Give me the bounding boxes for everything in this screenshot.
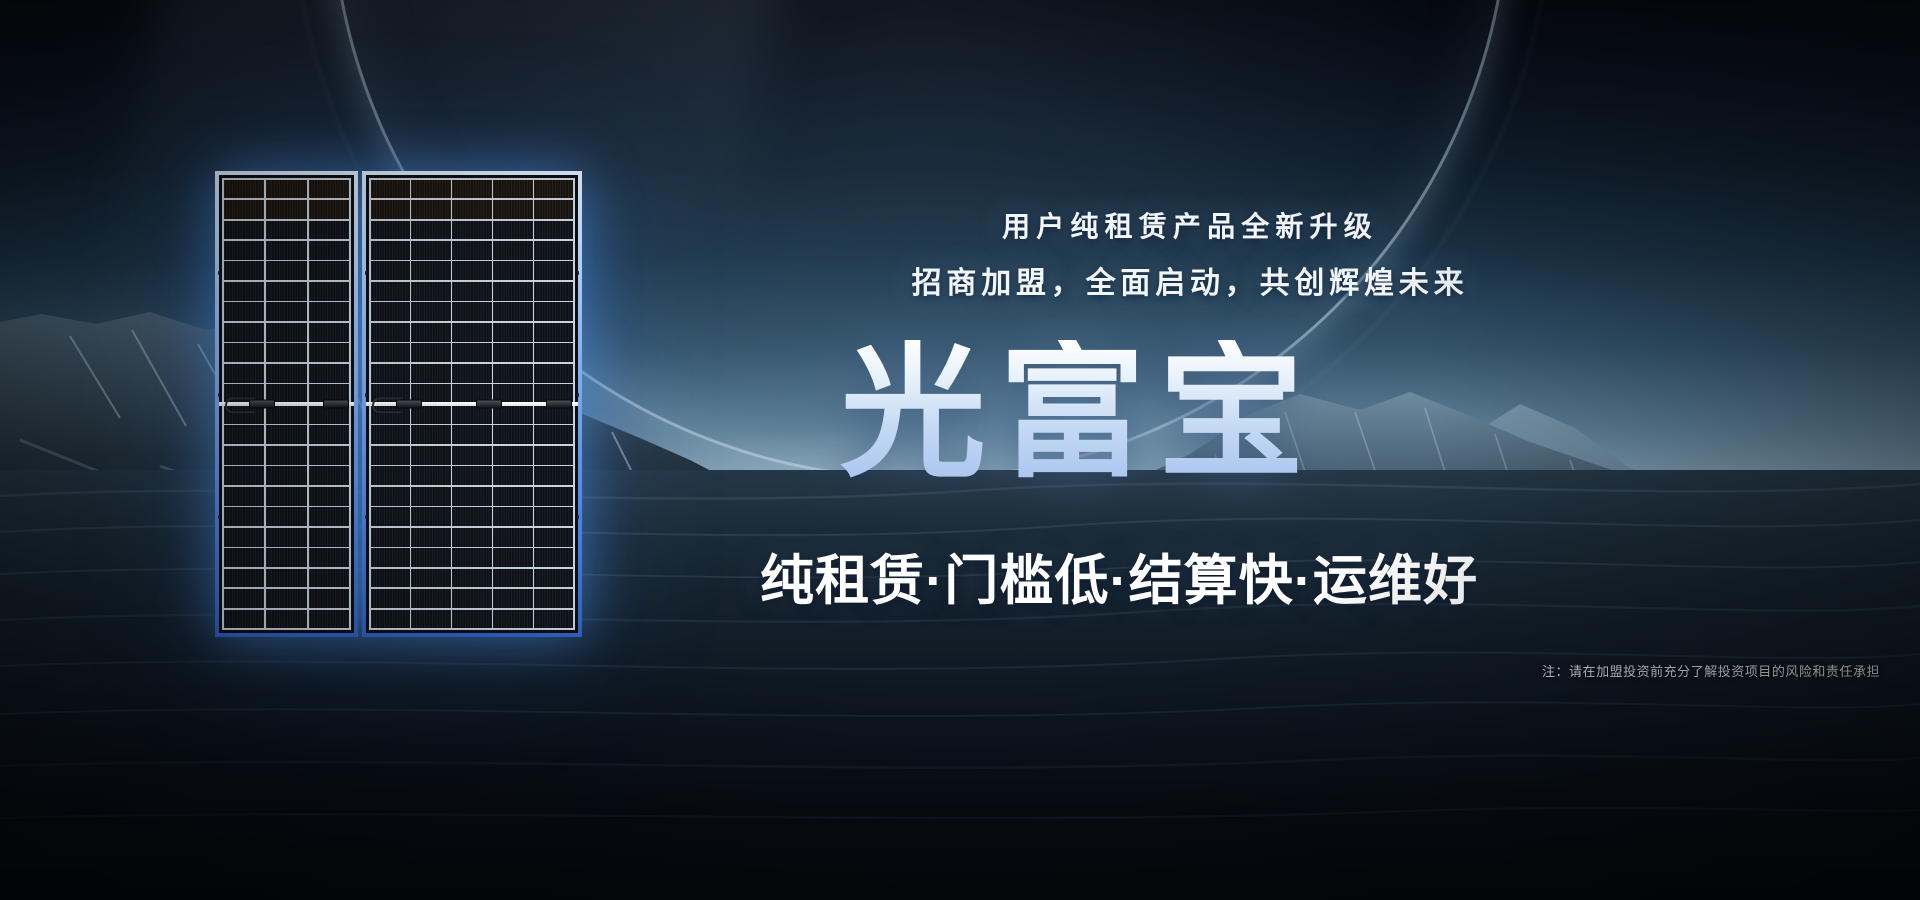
tagline-benefits: 纯租赁·门槛低·结算快·运维好 <box>760 536 1660 615</box>
solar-cell <box>452 548 491 567</box>
solar-cell <box>309 425 350 444</box>
solar-cell <box>224 446 265 465</box>
solar-cell <box>411 548 450 567</box>
solar-cell <box>534 487 573 506</box>
solar-cell <box>493 446 532 465</box>
solar-cell <box>266 221 307 240</box>
solar-cell <box>266 180 307 199</box>
solar-cell <box>411 425 450 444</box>
solar-cell <box>411 180 450 199</box>
solar-cell <box>493 528 532 547</box>
solar-cell <box>266 200 307 219</box>
solar-cell <box>371 446 410 465</box>
solar-cell <box>309 569 350 588</box>
solar-cell <box>452 528 491 547</box>
solar-cell <box>534 180 573 199</box>
solar-cell <box>534 343 573 362</box>
solar-cell <box>309 221 350 240</box>
solar-cell <box>309 282 350 301</box>
solar-cell <box>224 282 265 301</box>
subheadline-line-2: 招商加盟，全面启动，共创辉煌未来 <box>790 258 1590 302</box>
frame-screw <box>577 271 579 275</box>
solar-cell <box>411 323 450 342</box>
solar-cell <box>493 364 532 383</box>
solar-cell <box>493 487 532 506</box>
frame-screw <box>365 271 367 275</box>
solar-cell <box>309 446 350 465</box>
solar-cell <box>371 466 410 485</box>
solar-cell <box>309 261 350 280</box>
solar-cell <box>224 343 265 362</box>
solar-cell <box>266 446 307 465</box>
solar-cell <box>411 343 450 362</box>
solar-cell <box>266 241 307 260</box>
solar-cell <box>493 466 532 485</box>
solar-cell <box>534 364 573 383</box>
solar-cell <box>452 610 491 629</box>
solar-cell <box>266 487 307 506</box>
solar-cell <box>309 241 350 260</box>
solar-cell <box>266 261 307 280</box>
solar-cell <box>309 302 350 321</box>
solar-cell <box>452 221 491 240</box>
solar-cell <box>309 200 350 219</box>
solar-cell <box>224 323 265 342</box>
solar-cell <box>411 589 450 608</box>
solar-cell <box>224 507 265 526</box>
solar-cell <box>266 589 307 608</box>
solar-cell <box>266 323 307 342</box>
frame-screw <box>218 271 220 275</box>
solar-cell <box>411 466 450 485</box>
solar-cell <box>493 548 532 567</box>
solar-cell <box>534 282 573 301</box>
solar-cell <box>371 323 410 342</box>
frame-screw <box>218 515 220 519</box>
solar-cell <box>411 507 450 526</box>
solar-cell <box>534 425 573 444</box>
solar-cell <box>266 528 307 547</box>
solar-cell <box>224 466 265 485</box>
frame-screw <box>365 393 367 397</box>
solar-cell <box>266 282 307 301</box>
solar-cell <box>309 466 350 485</box>
solar-cell <box>493 241 532 260</box>
solar-cell <box>224 548 265 567</box>
solar-cell <box>411 528 450 547</box>
solar-cell <box>224 302 265 321</box>
brand-title: 光富宝 <box>840 340 1440 486</box>
subheadline-line-1: 用户纯租赁产品全新升级 <box>870 205 1510 245</box>
solar-module-right <box>362 171 582 637</box>
solar-cell <box>411 261 450 280</box>
solar-cell <box>224 425 265 444</box>
solar-cell <box>224 180 265 199</box>
solar-cell <box>493 323 532 342</box>
solar-cell <box>411 446 450 465</box>
solar-cell <box>534 323 573 342</box>
solar-cell <box>224 589 265 608</box>
solar-cell <box>266 364 307 383</box>
frame-screw <box>577 393 579 397</box>
solar-cell <box>309 487 350 506</box>
disclaimer-note: 注：请在加盟投资前充分了解投资项目的风险和责任承担 <box>1542 661 1880 680</box>
solar-cell <box>266 343 307 362</box>
promo-banner: 用户纯租赁产品全新升级 招商加盟，全面启动，共创辉煌未来 光富宝 纯租赁·门槛低… <box>0 0 1920 900</box>
solar-cell <box>309 610 350 629</box>
cable-connector-2 <box>372 397 402 413</box>
solar-cell <box>452 241 491 260</box>
solar-cell <box>493 610 532 629</box>
solar-cell <box>534 589 573 608</box>
solar-cell <box>452 589 491 608</box>
solar-cell <box>266 569 307 588</box>
solar-cell <box>309 180 350 199</box>
solar-cell <box>452 425 491 444</box>
solar-cell <box>266 302 307 321</box>
frame-screw <box>365 515 367 519</box>
solar-cell <box>534 610 573 629</box>
solar-cell <box>534 507 573 526</box>
solar-cell <box>266 548 307 567</box>
solar-cell <box>534 302 573 321</box>
junction-box-4 <box>476 400 502 409</box>
solar-cell <box>266 610 307 629</box>
solar-cell <box>493 282 532 301</box>
solar-cell <box>371 180 410 199</box>
frame-screw <box>577 515 579 519</box>
solar-panel-product <box>215 171 582 637</box>
solar-cell <box>452 364 491 383</box>
solar-cell <box>371 528 410 547</box>
solar-cell <box>493 343 532 362</box>
solar-cell <box>224 528 265 547</box>
solar-cell <box>371 282 410 301</box>
solar-cell <box>534 241 573 260</box>
solar-cell <box>309 507 350 526</box>
solar-cell <box>309 323 350 342</box>
solar-cell <box>534 528 573 547</box>
solar-cell <box>224 610 265 629</box>
solar-cell <box>534 446 573 465</box>
solar-cell <box>371 200 410 219</box>
solar-cell <box>309 343 350 362</box>
solar-cell <box>371 589 410 608</box>
solar-cell <box>309 528 350 547</box>
frame-screw <box>218 393 220 397</box>
solar-cell <box>452 466 491 485</box>
junction-box-2 <box>323 400 349 409</box>
solar-cell <box>224 261 265 280</box>
solar-cell <box>411 610 450 629</box>
solar-cell <box>371 343 410 362</box>
solar-cell <box>266 466 307 485</box>
solar-cell <box>411 282 450 301</box>
solar-cell <box>309 589 350 608</box>
solar-cell <box>224 241 265 260</box>
solar-cell <box>371 487 410 506</box>
solar-cell <box>411 569 450 588</box>
solar-cell <box>224 569 265 588</box>
solar-cell <box>371 364 410 383</box>
solar-cell <box>452 282 491 301</box>
solar-cell <box>452 507 491 526</box>
solar-cell <box>452 200 491 219</box>
solar-cell <box>452 323 491 342</box>
solar-cell <box>493 507 532 526</box>
junction-box-5 <box>546 400 572 409</box>
solar-cell <box>411 364 450 383</box>
solar-cell <box>411 302 450 321</box>
solar-cell <box>452 261 491 280</box>
solar-cell <box>493 261 532 280</box>
solar-cell <box>371 221 410 240</box>
solar-cell <box>411 487 450 506</box>
solar-cell <box>411 221 450 240</box>
solar-cell <box>534 200 573 219</box>
solar-cell <box>371 261 410 280</box>
solar-cell <box>534 548 573 567</box>
solar-cell <box>452 180 491 199</box>
solar-cell <box>493 569 532 588</box>
solar-module-left <box>215 171 358 637</box>
solar-cell <box>371 425 410 444</box>
solar-cell <box>493 221 532 240</box>
solar-cell <box>224 221 265 240</box>
solar-cell <box>493 200 532 219</box>
solar-cell <box>534 466 573 485</box>
solar-cell <box>309 548 350 567</box>
solar-cell <box>534 261 573 280</box>
solar-cell <box>371 507 410 526</box>
cable-connector-1 <box>225 397 255 413</box>
solar-cell <box>411 241 450 260</box>
solar-cell <box>452 487 491 506</box>
solar-cell <box>266 425 307 444</box>
solar-cell <box>371 241 410 260</box>
solar-cell <box>493 589 532 608</box>
solar-cell <box>224 200 265 219</box>
solar-cell <box>493 302 532 321</box>
solar-cell <box>452 302 491 321</box>
solar-cell <box>224 487 265 506</box>
solar-cell <box>309 364 350 383</box>
solar-cell <box>371 302 410 321</box>
solar-cell <box>493 180 532 199</box>
solar-cell <box>493 425 532 444</box>
solar-cell <box>534 221 573 240</box>
solar-cell <box>411 200 450 219</box>
solar-cell <box>452 343 491 362</box>
solar-cell <box>266 507 307 526</box>
solar-cell <box>224 364 265 383</box>
solar-cell <box>371 569 410 588</box>
solar-cell <box>371 610 410 629</box>
solar-cell <box>452 569 491 588</box>
solar-cell <box>534 569 573 588</box>
solar-cell <box>371 548 410 567</box>
solar-cell <box>452 446 491 465</box>
